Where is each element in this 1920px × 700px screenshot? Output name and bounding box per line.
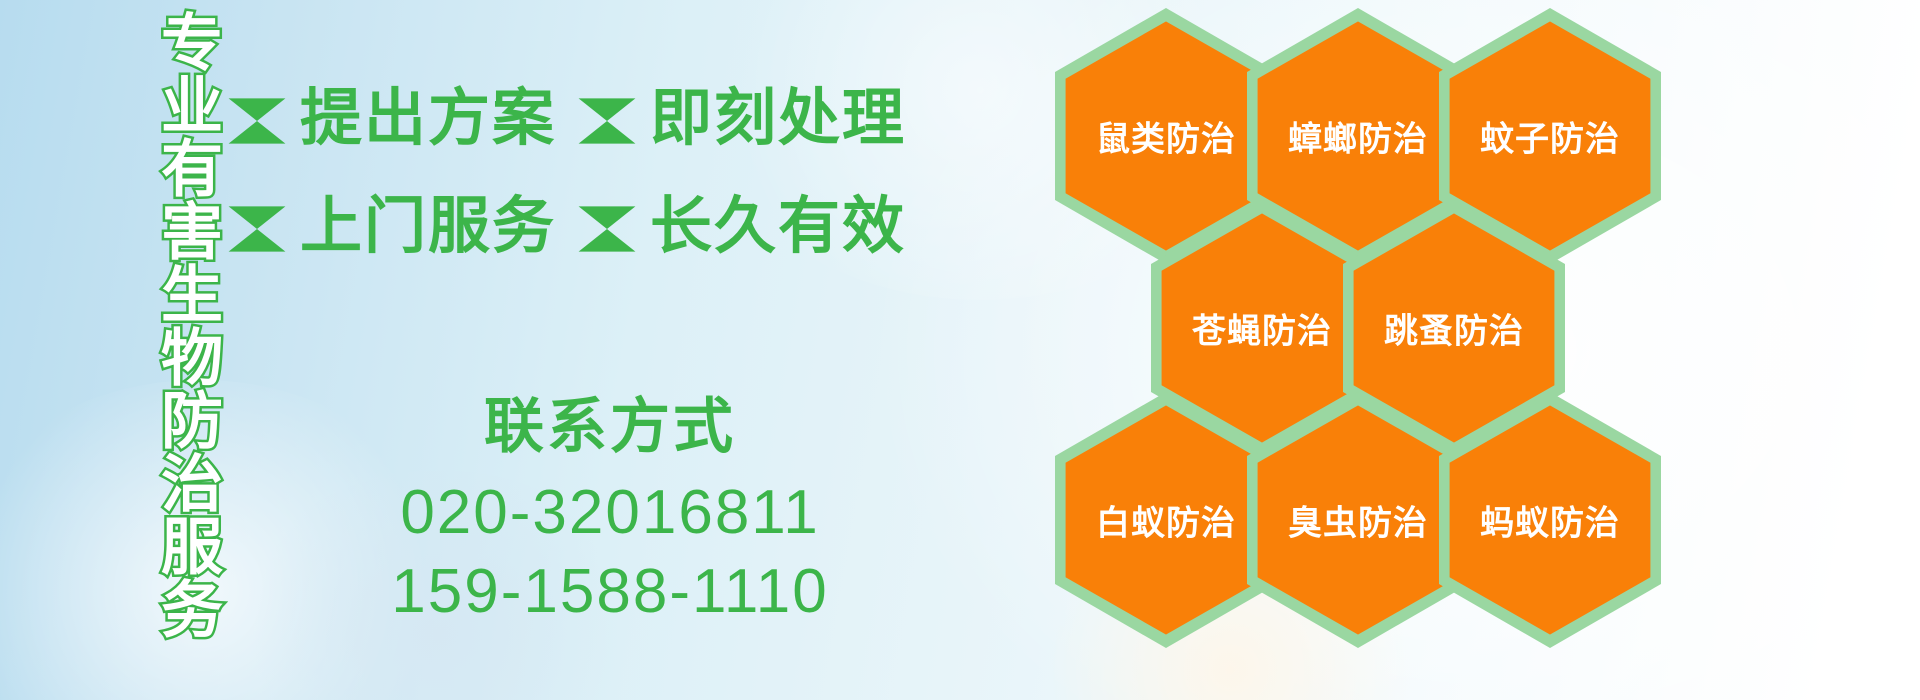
diamond-icon xyxy=(229,98,286,143)
feature-row-1: 提出方案 即刻处理 xyxy=(228,88,914,150)
service-hex-termite[interactable]: 白蚁防治 xyxy=(1055,392,1277,648)
service-hex-bedbug[interactable]: 臭虫防治 xyxy=(1247,392,1469,648)
pest-control-banner: 专业有害生物防治服务 提出方案 即刻处理 上门服务 长久有效 联系方式 020-… xyxy=(0,0,1920,700)
feature-item-immediate-handling: 即刻处理 xyxy=(578,88,914,150)
service-label-flea: 跳蚤防治 xyxy=(1343,304,1565,353)
service-label-bedbug: 臭虫防治 xyxy=(1247,496,1469,545)
contact-block: 联系方式 020-32016811 159-1588-1110 xyxy=(300,392,920,632)
feature-label-immediate-handling: 即刻处理 xyxy=(650,88,906,150)
feature-row-2: 上门服务 长久有效 xyxy=(228,196,914,258)
feature-item-onsite-service: 上门服务 xyxy=(228,196,578,258)
feature-item-long-lasting: 长久有效 xyxy=(578,196,914,258)
service-label-mosquito: 蚊子防治 xyxy=(1439,112,1661,161)
feature-item-propose-plan: 提出方案 xyxy=(228,88,578,150)
diamond-icon xyxy=(579,98,636,143)
service-label-cockroach: 蟑螂防治 xyxy=(1247,112,1469,161)
phone-number-landline[interactable]: 020-32016811 xyxy=(300,473,920,552)
service-honeycomb: 鼠类防治 蟑螂防治 蚊子防治 苍蝇防治 跳蚤防治 白蚁防治 xyxy=(1055,0,1695,700)
feature-label-onsite-service: 上门服务 xyxy=(300,196,556,258)
service-label-rodent: 鼠类防治 xyxy=(1055,112,1277,161)
service-hex-ant[interactable]: 蚂蚁防治 xyxy=(1439,392,1661,648)
feature-label-long-lasting: 长久有效 xyxy=(650,196,906,258)
phone-number-mobile[interactable]: 159-1588-1110 xyxy=(300,552,920,631)
diamond-icon xyxy=(579,206,636,251)
service-label-fly: 苍蝇防治 xyxy=(1151,304,1373,353)
vertical-headline: 专业有害生物防治服务 xyxy=(112,10,216,570)
feature-label-propose-plan: 提出方案 xyxy=(300,88,556,150)
service-label-termite: 白蚁防治 xyxy=(1055,496,1277,545)
contact-heading: 联系方式 xyxy=(300,392,920,461)
diamond-icon xyxy=(229,206,286,251)
service-label-ant: 蚂蚁防治 xyxy=(1439,496,1661,545)
